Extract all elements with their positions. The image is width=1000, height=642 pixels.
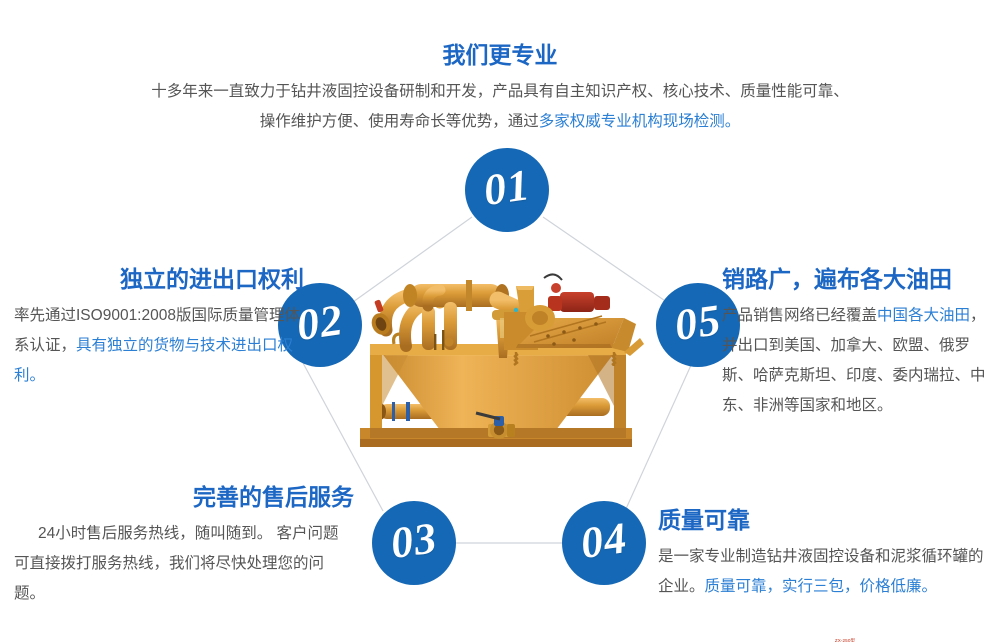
badge-05-label: 05 xyxy=(672,298,724,348)
badge-04-label: 04 xyxy=(578,516,630,566)
feature-03-body: 24小时售后服务热线，随叫随到。 客户问题可直接拨打服务热线，我们将尽快处理您的… xyxy=(14,519,354,609)
feature-block-02: 独立的进出口权利 率先通过ISO9001:2008版国际质量管理体系认证，具有独… xyxy=(14,266,304,391)
product-photo-mud-separator: ZX-250型 泥浆分离器 济南市飞达油机械有限公司 TEL：159367310… xyxy=(348,256,648,486)
feature-01-body: 十多年来一直致力于钻井液固控设备研制和开发，产品具有自主知识产权、核心技术、质量… xyxy=(150,77,850,137)
feature-block-03: 完善的售后服务 24小时售后服务热线，随叫随到。 客户问题可直接拨打服务热线，我… xyxy=(14,484,354,609)
badge-03[interactable]: 03 xyxy=(372,501,456,585)
badge-03-label: 03 xyxy=(388,516,440,566)
feature-03-heading: 完善的售后服务 xyxy=(14,484,354,512)
badge-04[interactable]: 04 xyxy=(562,501,646,585)
highlighted-text: 质量可靠，实行三包，价格低廉。 xyxy=(705,578,938,595)
feature-02-heading: 独立的进出口权利 xyxy=(14,266,304,294)
plain-text: 十多年来一直致力于钻井液固控设备研制和开发，产品具有自主知识产权、核心技术、质量… xyxy=(151,83,849,130)
badge-01-label: 01 xyxy=(481,163,533,213)
plain-text: 产品销售网络已经覆盖 xyxy=(722,307,877,324)
highlighted-text: 中国各大油田 xyxy=(877,307,970,324)
feature-04-heading: 质量可靠 xyxy=(658,507,988,535)
highlighted-text: 多家权威专业机构现场检测。 xyxy=(539,113,741,130)
machine-decal-text: ZX-250型 泥浆分离器 济南市飞达油机械有限公司 TEL：159367310… xyxy=(800,638,890,642)
feature-01-heading: 我们更专业 xyxy=(150,42,850,70)
feature-block-05: 销路广，遍布各大油田 产品销售网络已经覆盖中国各大油田，并出口到美国、加拿大、欧… xyxy=(722,266,994,421)
feature-block-01: 我们更专业 十多年来一直致力于钻井液固控设备研制和开发，产品具有自主知识产权、核… xyxy=(150,42,850,137)
plain-text: 24小时售后服务热线，随叫随到。 客户问题可直接拨打服务热线，我们将尽快处理您的… xyxy=(14,525,339,602)
feature-block-04: 质量可靠 是一家专业制造钻井液固控设备和泥浆循环罐的企业。质量可靠，实行三包，价… xyxy=(658,507,988,602)
badge-01[interactable]: 01 xyxy=(465,148,549,232)
feature-05-body: 产品销售网络已经覆盖中国各大油田，并出口到美国、加拿大、欧盟、俄罗斯、哈萨克斯坦… xyxy=(722,301,994,421)
feature-pentagon-infographic: ZX-250型 泥浆分离器 济南市飞达油机械有限公司 TEL：159367310… xyxy=(0,0,1000,642)
feature-05-heading: 销路广，遍布各大油田 xyxy=(722,266,994,294)
feature-04-body: 是一家专业制造钻井液固控设备和泥浆循环罐的企业。质量可靠，实行三包，价格低廉。 xyxy=(658,542,988,602)
feature-02-body: 率先通过ISO9001:2008版国际质量管理体系认证，具有独立的货物与技术进出… xyxy=(14,301,304,391)
